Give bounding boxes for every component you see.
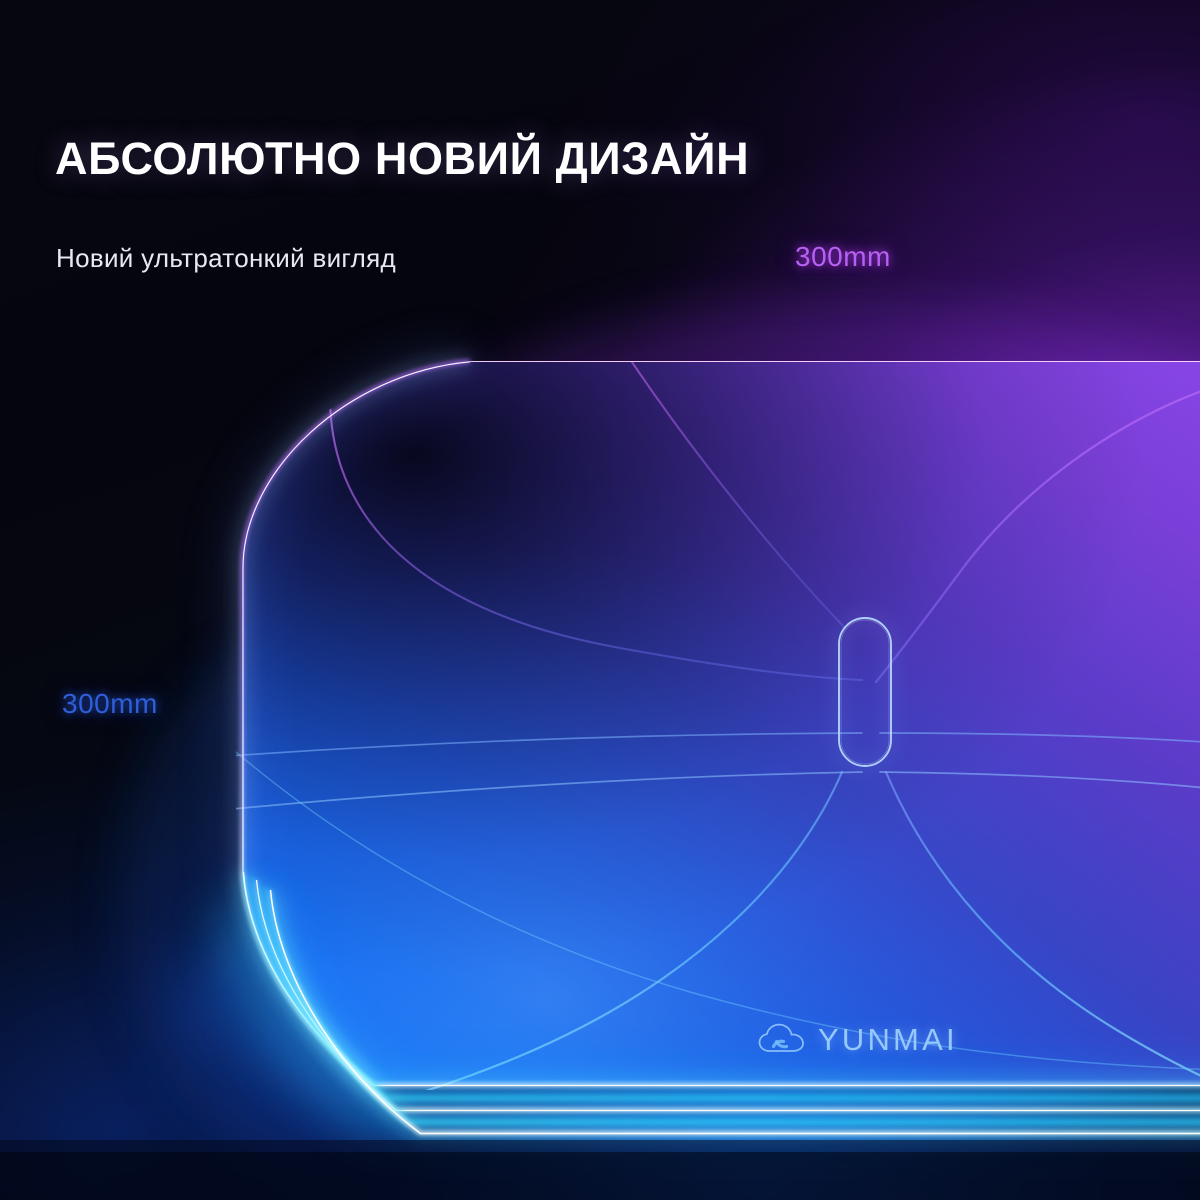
page-title: АБСОЛЮТНО НОВИЙ ДИЗАЙН [55,133,749,185]
depth-dimension-label: 300mm [62,688,158,720]
page-subtitle: Новий ультратонкий вигляд [56,243,396,274]
cloud-icon [757,1022,809,1056]
brand-name: YUNMAI [818,1024,958,1055]
brand-logo: YUNMAI [757,1022,958,1056]
product-banner: АБСОЛЮТНО НОВИЙ ДИЗАЙН Новий ультратонки… [0,0,1200,1200]
width-dimension-label: 300mm [795,241,891,273]
